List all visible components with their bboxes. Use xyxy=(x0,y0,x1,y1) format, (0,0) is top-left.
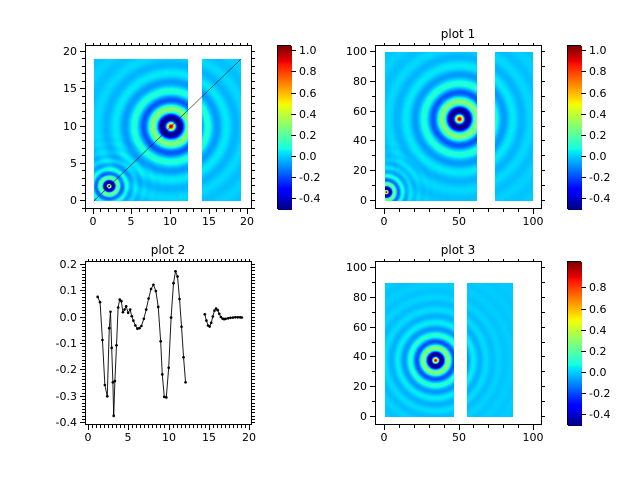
axis-tick xyxy=(399,43,400,46)
axis-tick xyxy=(152,425,153,428)
axis-tick xyxy=(533,43,534,46)
axis-tick xyxy=(503,425,504,428)
axis-tick xyxy=(252,409,255,410)
axis-tick xyxy=(140,259,141,262)
axis-tick xyxy=(488,209,489,212)
axis-ticklabel: 0 xyxy=(73,216,113,227)
axis-tick xyxy=(144,259,145,262)
axis-tick xyxy=(82,185,85,186)
axis-tick xyxy=(216,43,217,46)
axis-tick xyxy=(82,389,85,390)
axis-tick xyxy=(82,376,85,377)
axis-tick xyxy=(80,264,85,265)
axis-tick xyxy=(518,209,519,212)
axis-tick xyxy=(252,396,255,397)
axis-tick xyxy=(237,425,238,428)
axis-tick xyxy=(370,416,375,417)
axis-tick xyxy=(252,73,255,74)
axis-tick xyxy=(503,259,504,262)
axis-tick xyxy=(542,356,545,357)
line-canvas-2 xyxy=(86,262,253,426)
axis-tick xyxy=(82,303,85,304)
axis-tick xyxy=(252,403,255,404)
axis-tick xyxy=(82,406,85,407)
axis-tick xyxy=(82,323,85,324)
axis-tick xyxy=(82,363,85,364)
axis-tick xyxy=(177,425,178,428)
axis-tick xyxy=(291,114,296,115)
axis-tick xyxy=(136,259,137,262)
axis-tick xyxy=(252,366,255,367)
axis-tick xyxy=(80,51,85,52)
axis-ticklabel: 20 xyxy=(227,216,267,227)
axis-tick xyxy=(370,356,375,357)
axis-tick xyxy=(193,425,194,428)
axis-tick xyxy=(291,50,296,51)
subplot-top-right: plot 1 050100020406080100 -0.4-0.20.00.2… xyxy=(320,0,640,240)
axis-tick xyxy=(503,209,504,212)
axis-tick xyxy=(252,386,255,387)
axis-tick xyxy=(82,58,85,59)
axis-tick xyxy=(581,177,586,178)
axis-tick xyxy=(252,274,255,275)
axis-tick xyxy=(581,50,586,51)
axis-tick xyxy=(444,43,445,46)
axis-tick xyxy=(139,43,140,46)
axis-tick xyxy=(124,425,125,428)
plot-title-2: plot 2 xyxy=(85,244,251,256)
axis-tick xyxy=(581,351,586,352)
axis-tick xyxy=(229,425,230,428)
axis-tick xyxy=(82,287,85,288)
axis-tick xyxy=(252,297,255,298)
axis-tick xyxy=(224,43,225,46)
axis-ticklabel: 0.0 xyxy=(589,151,629,162)
axis-tick xyxy=(170,209,171,214)
axis-tick xyxy=(82,393,85,394)
axis-tick xyxy=(147,43,148,46)
axis-tick xyxy=(82,333,85,334)
axis-tick xyxy=(473,43,474,46)
axis-tick xyxy=(533,425,534,430)
axis-tick xyxy=(170,43,171,46)
axis-tick xyxy=(205,259,206,262)
axis-ticklabel: 50 xyxy=(439,432,479,443)
axis-tick xyxy=(372,401,375,402)
axis-tick xyxy=(241,425,242,428)
axis-tick xyxy=(372,66,375,67)
axis-tick xyxy=(384,43,385,46)
axis-tick xyxy=(201,209,202,212)
axis-tick xyxy=(132,259,133,262)
axis-tick xyxy=(372,155,375,156)
axis-tick xyxy=(370,200,375,201)
axis-tick xyxy=(252,310,255,311)
axis-tick xyxy=(252,58,255,59)
colorbar-canvas-1 xyxy=(568,46,582,210)
axis-tick xyxy=(252,170,255,171)
axis-tick xyxy=(252,360,255,361)
axis-tick xyxy=(100,425,101,428)
axis-tick xyxy=(542,401,545,402)
axis-tick xyxy=(488,43,489,46)
axis-tick xyxy=(82,103,85,104)
axis-tick xyxy=(429,425,430,428)
axis-tick xyxy=(189,259,190,262)
axis-tick xyxy=(414,425,415,428)
axis-tick xyxy=(370,327,375,328)
axis-tick xyxy=(252,399,255,400)
axis-tick xyxy=(128,259,129,262)
axis-tick xyxy=(247,43,248,46)
axis-tick xyxy=(252,208,255,209)
axis-ticklabel: 0 xyxy=(364,432,404,443)
axis-tick xyxy=(252,340,255,341)
axis-tick xyxy=(96,259,97,262)
axis-tick xyxy=(291,156,296,157)
axis-tick xyxy=(252,133,255,134)
axis-tick xyxy=(518,259,519,262)
axis-tick xyxy=(372,282,375,283)
axis-tick xyxy=(429,209,430,212)
axis-ticklabel: 0.2 xyxy=(589,346,629,357)
axis-ticklabel: -0.4 xyxy=(37,417,77,428)
axis-tick xyxy=(82,300,85,301)
axis-tick xyxy=(82,193,85,194)
axis-ticklabel: 10 xyxy=(149,432,189,443)
axis-tick xyxy=(205,425,206,428)
axis-ticklabel: -0.2 xyxy=(37,364,77,375)
axis-tick xyxy=(233,425,234,428)
axis-tick xyxy=(201,259,202,262)
axis-ticklabel: 0.0 xyxy=(37,312,77,323)
axis-tick xyxy=(370,81,375,82)
axis-tick xyxy=(291,135,296,136)
axis-tick xyxy=(177,259,178,262)
axis-ticklabel: 100 xyxy=(327,46,367,57)
axis-tick xyxy=(291,71,296,72)
axis-tick xyxy=(241,259,242,262)
axes-frame-3 xyxy=(375,261,542,425)
axis-tick xyxy=(173,425,174,428)
axis-tick xyxy=(429,43,430,46)
axis-tick xyxy=(252,320,255,321)
axis-tick xyxy=(156,259,157,262)
axis-tick xyxy=(252,416,255,417)
axis-tick xyxy=(581,93,586,94)
axis-tick xyxy=(252,317,255,318)
axis-tick xyxy=(542,282,545,283)
axis-tick xyxy=(370,51,375,52)
axis-tick xyxy=(237,259,238,262)
colorbar-frame-1 xyxy=(567,45,581,209)
axis-tick xyxy=(82,140,85,141)
axis-tick xyxy=(197,425,198,428)
axes-frame-0 xyxy=(85,45,252,209)
axis-ticklabel: -0.2 xyxy=(589,388,629,399)
axis-tick xyxy=(518,43,519,46)
axis-ticklabel: 15 xyxy=(189,216,229,227)
axis-tick xyxy=(82,379,85,380)
axis-tick xyxy=(252,336,255,337)
axis-tick xyxy=(82,399,85,400)
axis-tick xyxy=(249,425,250,430)
axis-tick xyxy=(82,178,85,179)
axis-tick xyxy=(252,140,255,141)
axis-tick xyxy=(82,270,85,271)
axis-ticklabel: -0.2 xyxy=(589,172,629,183)
axis-tick xyxy=(162,43,163,46)
axis-tick xyxy=(156,425,157,428)
plot-title-3: plot 3 xyxy=(375,244,541,256)
axis-tick xyxy=(542,200,545,201)
axis-tick xyxy=(181,259,182,262)
axis-tick xyxy=(80,126,85,127)
axis-tick xyxy=(82,403,85,404)
axis-tick xyxy=(581,71,586,72)
axis-tick xyxy=(147,209,148,212)
axis-tick xyxy=(252,103,255,104)
axis-tick xyxy=(82,320,85,321)
axis-tick xyxy=(370,170,375,171)
axis-tick xyxy=(581,198,586,199)
axis-tick xyxy=(459,259,460,262)
axis-tick xyxy=(169,259,170,262)
axis-tick xyxy=(80,343,85,344)
axis-ticklabel: 20 xyxy=(229,432,269,443)
axis-tick xyxy=(131,43,132,46)
axis-ticklabel: 80 xyxy=(327,292,367,303)
axis-tick xyxy=(291,198,296,199)
axis-tick xyxy=(162,209,163,212)
axis-tick xyxy=(252,406,255,407)
axis-tick xyxy=(160,259,161,262)
axis-tick xyxy=(82,409,85,410)
axis-tick xyxy=(144,425,145,428)
axis-tick xyxy=(518,425,519,428)
axis-tick xyxy=(201,425,202,428)
axis-tick xyxy=(252,96,255,97)
axis-tick xyxy=(542,81,545,82)
axis-tick xyxy=(82,419,85,420)
axis-tick xyxy=(82,353,85,354)
axis-tick xyxy=(252,264,255,265)
axis-tick xyxy=(155,209,156,212)
axis-tick xyxy=(209,43,210,46)
axis-tick xyxy=(82,267,85,268)
axis-tick xyxy=(581,114,586,115)
axis-tick xyxy=(225,425,226,428)
axis-tick xyxy=(82,148,85,149)
axis-ticklabel: 0 xyxy=(327,195,367,206)
axis-tick xyxy=(542,111,545,112)
axis-ticklabel: 0 xyxy=(327,411,367,422)
axis-ticklabel: 0 xyxy=(37,195,77,206)
axis-tick xyxy=(414,43,415,46)
axis-tick xyxy=(245,259,246,262)
axis-tick xyxy=(399,425,400,428)
axis-ticklabel: 100 xyxy=(327,262,367,273)
axis-tick xyxy=(252,379,255,380)
axis-tick xyxy=(384,209,385,214)
axis-tick xyxy=(169,425,170,430)
axis-tick xyxy=(186,209,187,212)
axis-tick xyxy=(189,425,190,428)
axis-tick xyxy=(252,280,255,281)
axis-tick xyxy=(82,313,85,314)
axis-tick xyxy=(164,259,165,262)
axis-ticklabel: 5 xyxy=(108,432,148,443)
axis-tick xyxy=(82,277,85,278)
axis-tick xyxy=(233,259,234,262)
axis-tick xyxy=(252,412,255,413)
axis-tick xyxy=(82,326,85,327)
axis-ticklabel: 0.6 xyxy=(589,304,629,315)
axis-tick xyxy=(128,425,129,430)
axis-tick xyxy=(252,178,255,179)
axis-tick xyxy=(178,43,179,46)
axis-tick xyxy=(252,369,255,370)
axis-tick xyxy=(82,412,85,413)
axis-tick xyxy=(209,425,210,430)
axis-tick xyxy=(124,209,125,212)
axis-tick xyxy=(252,389,255,390)
axis-tick xyxy=(252,81,255,82)
axis-tick xyxy=(82,340,85,341)
axis-tick xyxy=(82,133,85,134)
axis-tick xyxy=(252,350,255,351)
axis-tick xyxy=(104,425,105,428)
axis-tick xyxy=(85,43,86,46)
axis-tick xyxy=(370,267,375,268)
axis-ticklabel: 5 xyxy=(37,158,77,169)
axis-tick xyxy=(193,209,194,212)
axis-ticklabel: 0.4 xyxy=(589,325,629,336)
axis-tick xyxy=(185,259,186,262)
axis-tick xyxy=(414,259,415,262)
axis-tick xyxy=(488,259,489,262)
axis-tick xyxy=(372,312,375,313)
axis-tick xyxy=(581,414,586,415)
axis-tick xyxy=(252,363,255,364)
axis-tick xyxy=(100,259,101,262)
axis-tick xyxy=(542,185,545,186)
axis-tick xyxy=(252,383,255,384)
axis-tick xyxy=(252,422,255,423)
axis-tick xyxy=(221,259,222,262)
axis-tick xyxy=(252,118,255,119)
axis-tick xyxy=(542,312,545,313)
axis-tick xyxy=(542,140,545,141)
axis-ticklabel: -0.1 xyxy=(37,338,77,349)
axis-tick xyxy=(232,209,233,212)
axis-tick xyxy=(82,111,85,112)
axis-tick xyxy=(252,300,255,301)
axis-tick xyxy=(92,259,93,262)
axis-ticklabel: 100 xyxy=(513,432,553,443)
axis-tick xyxy=(252,303,255,304)
axis-ticklabel: -0.4 xyxy=(589,193,629,204)
axis-tick xyxy=(459,209,460,214)
axis-tick xyxy=(185,425,186,428)
axis-tick xyxy=(131,209,132,214)
axis-tick xyxy=(459,43,460,46)
axis-tick xyxy=(291,93,296,94)
axis-tick xyxy=(92,425,93,428)
axis-tick xyxy=(384,425,385,430)
axis-ticklabel: 40 xyxy=(327,351,367,362)
axis-tick xyxy=(533,209,534,214)
axis-tick xyxy=(542,66,545,67)
axis-ticklabel: -0.3 xyxy=(37,391,77,402)
axis-ticklabel: 20 xyxy=(37,46,77,57)
axis-tick xyxy=(82,356,85,357)
axis-tick xyxy=(104,259,105,262)
axis-tick xyxy=(533,259,534,262)
axis-tick xyxy=(252,155,255,156)
axis-tick xyxy=(82,330,85,331)
axis-tick xyxy=(252,293,255,294)
axis-tick xyxy=(252,353,255,354)
axis-tick xyxy=(252,270,255,271)
heatmap-canvas-3 xyxy=(376,262,543,426)
axis-tick xyxy=(82,81,85,82)
axes-frame-1 xyxy=(375,45,542,209)
axis-tick xyxy=(252,163,255,164)
axis-tick xyxy=(80,200,85,201)
axis-tick xyxy=(152,259,153,262)
axis-ticklabel: 0.4 xyxy=(589,109,629,120)
axis-tick xyxy=(108,43,109,46)
axis-tick xyxy=(370,297,375,298)
axis-tick xyxy=(139,209,140,212)
axis-tick xyxy=(252,51,255,52)
axis-tick xyxy=(82,416,85,417)
axis-tick xyxy=(444,425,445,428)
axis-tick xyxy=(82,155,85,156)
plot-title-1: plot 1 xyxy=(375,28,541,40)
axis-tick xyxy=(542,126,545,127)
axis-ticklabel: 15 xyxy=(37,83,77,94)
axis-tick xyxy=(82,66,85,67)
axis-tick xyxy=(503,43,504,46)
axis-tick xyxy=(80,317,85,318)
axis-tick xyxy=(252,343,255,344)
axis-tick xyxy=(229,259,230,262)
axis-tick xyxy=(80,290,85,291)
axis-tick xyxy=(186,43,187,46)
axis-tick xyxy=(384,259,385,262)
axis-tick xyxy=(252,193,255,194)
axis-tick xyxy=(245,425,246,428)
axis-tick xyxy=(93,209,94,214)
axis-tick xyxy=(581,287,586,288)
axis-tick xyxy=(132,425,133,428)
figure-canvas: 0510152005101520 -0.4-0.20.00.20.40.60.8… xyxy=(0,0,640,480)
axis-tick xyxy=(240,43,241,46)
axis-ticklabel: 60 xyxy=(327,106,367,117)
axis-ticklabel: 20 xyxy=(327,381,367,392)
axis-tick xyxy=(581,393,586,394)
axis-ticklabel: 100 xyxy=(513,216,553,227)
axis-tick xyxy=(252,111,255,112)
axis-tick xyxy=(116,209,117,212)
axis-tick xyxy=(173,259,174,262)
axis-tick xyxy=(160,425,161,428)
axis-tick xyxy=(181,425,182,428)
axis-tick xyxy=(82,366,85,367)
axis-tick xyxy=(252,148,255,149)
